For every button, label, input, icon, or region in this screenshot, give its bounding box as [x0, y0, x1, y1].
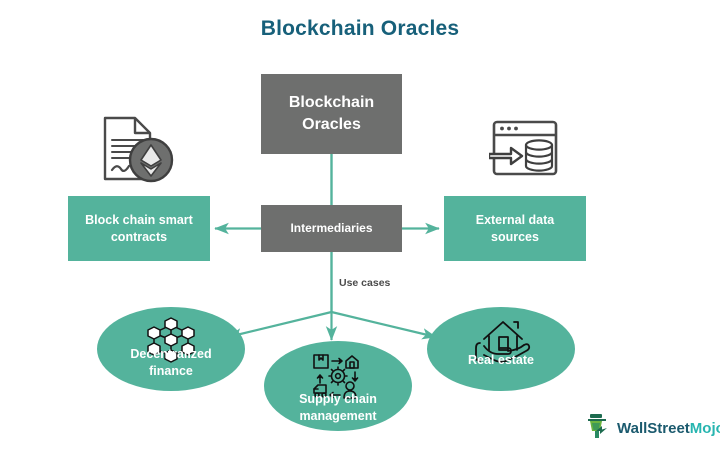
- node-right-line2: sources: [476, 229, 555, 246]
- node-intermediaries-label: Intermediaries: [290, 220, 372, 236]
- use-case-0-line1: Decentralized: [130, 346, 211, 363]
- wallstreetmojo-logo[interactable]: WallStreetMojo: [583, 412, 720, 445]
- page-title: Blockchain Oracles: [0, 17, 720, 41]
- node-left-line2: contracts: [85, 229, 193, 246]
- diagram-canvas: Blockchain Oracles Use cases Blockchain …: [0, 0, 720, 464]
- logo-text-wallstreet: WallStreet: [617, 420, 690, 437]
- connector-branch-to-realestate: [332, 312, 437, 337]
- node-right-line1: External data: [476, 212, 555, 229]
- smart-contract-ethereum-icon: [100, 115, 176, 192]
- use-case-1-line2: management: [299, 408, 377, 425]
- node-root-line2: Oracles: [289, 114, 374, 136]
- browser-database-icon: [489, 118, 561, 185]
- node-root-line1: Blockchain: [289, 92, 374, 114]
- node-external-data-sources[interactable]: External data sources: [444, 196, 586, 261]
- use-case-1-line1: Supply chain: [299, 391, 377, 408]
- use-case-supply-chain-management[interactable]: Supply chain management: [264, 341, 412, 431]
- logo-text-mojo: Mojo: [690, 420, 720, 437]
- use-cases-label: Use cases: [339, 277, 390, 289]
- use-case-2-line1: Real estate: [468, 352, 534, 369]
- node-intermediaries[interactable]: Intermediaries: [261, 205, 402, 252]
- node-blockchain-oracles[interactable]: Blockchain Oracles: [261, 74, 402, 154]
- wallstreetmojo-logo-icon: [583, 412, 611, 445]
- logo-text: WallStreetMojo: [617, 420, 720, 437]
- node-blockchain-smart-contracts[interactable]: Block chain smart contracts: [68, 196, 210, 261]
- use-case-decentralized-finance[interactable]: Decentralized finance: [97, 307, 245, 391]
- use-case-0-line2: finance: [130, 363, 211, 380]
- node-left-line1: Block chain smart: [85, 212, 193, 229]
- connector-branch-to-defi: [228, 312, 332, 337]
- use-case-real-estate[interactable]: Real estate: [427, 307, 575, 391]
